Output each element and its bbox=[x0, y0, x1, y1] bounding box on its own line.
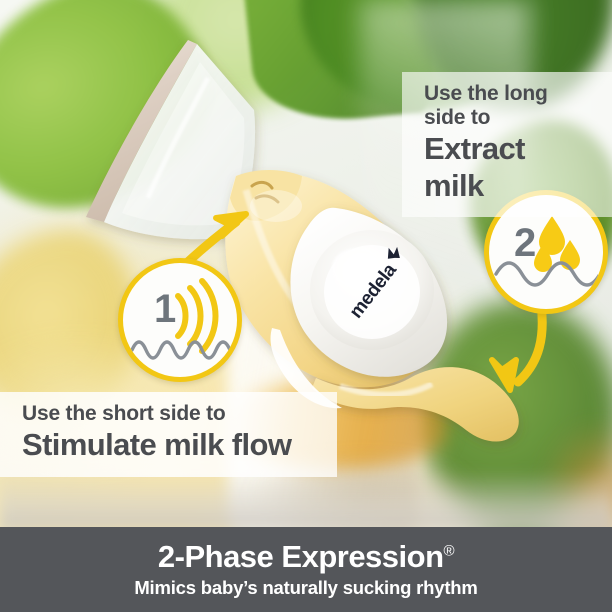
badge-1-number: 1 bbox=[154, 287, 176, 331]
sound-wave-icon bbox=[178, 281, 216, 351]
extract-subheading: Use the long side to bbox=[424, 82, 590, 130]
extract-heading: Extract milk bbox=[424, 131, 590, 204]
banner-title: 2-Phase Expression® bbox=[158, 540, 454, 574]
stimulate-subheading: Use the short side to bbox=[22, 402, 315, 426]
arrow-to-long-side bbox=[492, 304, 542, 390]
badge-2-number: 2 bbox=[514, 221, 536, 265]
callout-text-extract: Use the long side to Extract milk bbox=[402, 72, 612, 217]
banner-title-text: 2-Phase Expression bbox=[158, 539, 444, 574]
registered-trademark-icon: ® bbox=[444, 543, 455, 560]
bottom-banner: 2-Phase Expression® Mimics baby’s natura… bbox=[0, 527, 612, 612]
stimulation-wave-icon bbox=[132, 342, 230, 358]
callout-text-stimulate: Use the short side to Stimulate milk flo… bbox=[0, 392, 337, 477]
stimulate-heading: Stimulate milk flow bbox=[22, 427, 315, 464]
product-image: medela 1 bbox=[0, 0, 612, 612]
banner-subtitle: Mimics baby’s naturally sucking rhythm bbox=[134, 578, 477, 598]
callout-badge-1: 1 bbox=[118, 258, 242, 382]
